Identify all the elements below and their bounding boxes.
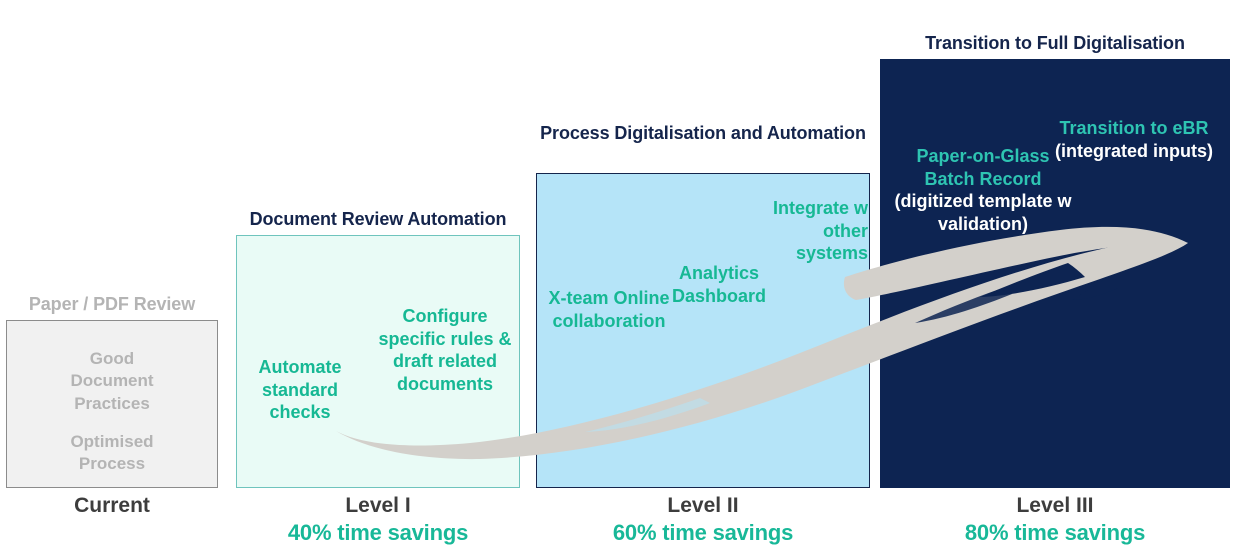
level3-callout-pog-sub: (digitized template w validation) xyxy=(890,190,1076,235)
current-item-good-document-practices: Good Document Practices xyxy=(7,348,217,415)
level2-level-name: Level II xyxy=(536,493,870,519)
current-item-line-3: Practices xyxy=(7,393,217,415)
level3-stage-labels: Level III 80% time savings xyxy=(880,493,1230,548)
current-stage-box: Good Document Practices Optimised Proces… xyxy=(6,320,218,488)
diagram-canvas: Paper / PDF Review Good Document Practic… xyxy=(0,0,1239,557)
level2-header-label: Process Digitalisation and Automation xyxy=(536,123,870,144)
level3-callout-ebr-sub: (integrated inputs) xyxy=(1046,140,1222,163)
level1-callout-automate-standard-checks: Automate standard checks xyxy=(240,356,360,424)
level3-level-name: Level III xyxy=(880,493,1230,519)
level2-stage-labels: Level II 60% time savings xyxy=(536,493,870,548)
level1-callout-configure-rules: Configure specific rules & draft related… xyxy=(372,305,518,396)
level3-callout-ebr-main: Transition to eBR xyxy=(1046,117,1222,140)
current-item-line-2: Process xyxy=(7,453,217,475)
current-stage-labels: Current xyxy=(6,493,218,519)
level2-callout-analytics-dashboard: Analytics Dashboard xyxy=(654,262,784,307)
level1-stage-labels: Level I 40% time savings xyxy=(236,493,520,548)
level1-header-label: Document Review Automation xyxy=(236,209,520,230)
level2-savings: 60% time savings xyxy=(536,519,870,548)
current-header-label: Paper / PDF Review xyxy=(6,294,218,315)
current-item-line-1: Optimised xyxy=(7,431,217,453)
level1-level-name: Level I xyxy=(236,493,520,519)
level3-savings: 80% time savings xyxy=(880,519,1230,548)
current-item-line-2: Document xyxy=(7,370,217,392)
level3-callout-transition-to-ebr: Transition to eBR (integrated inputs) xyxy=(1046,117,1222,162)
level2-callout-integrate-with-other-systems: Integrate w other systems xyxy=(754,197,868,265)
level1-savings: 40% time savings xyxy=(236,519,520,548)
current-item-line-1: Good xyxy=(7,348,217,370)
level3-header-label: Transition to Full Digitalisation xyxy=(880,33,1230,54)
current-item-optimised-process: Optimised Process xyxy=(7,431,217,476)
current-level-name: Current xyxy=(6,493,218,519)
